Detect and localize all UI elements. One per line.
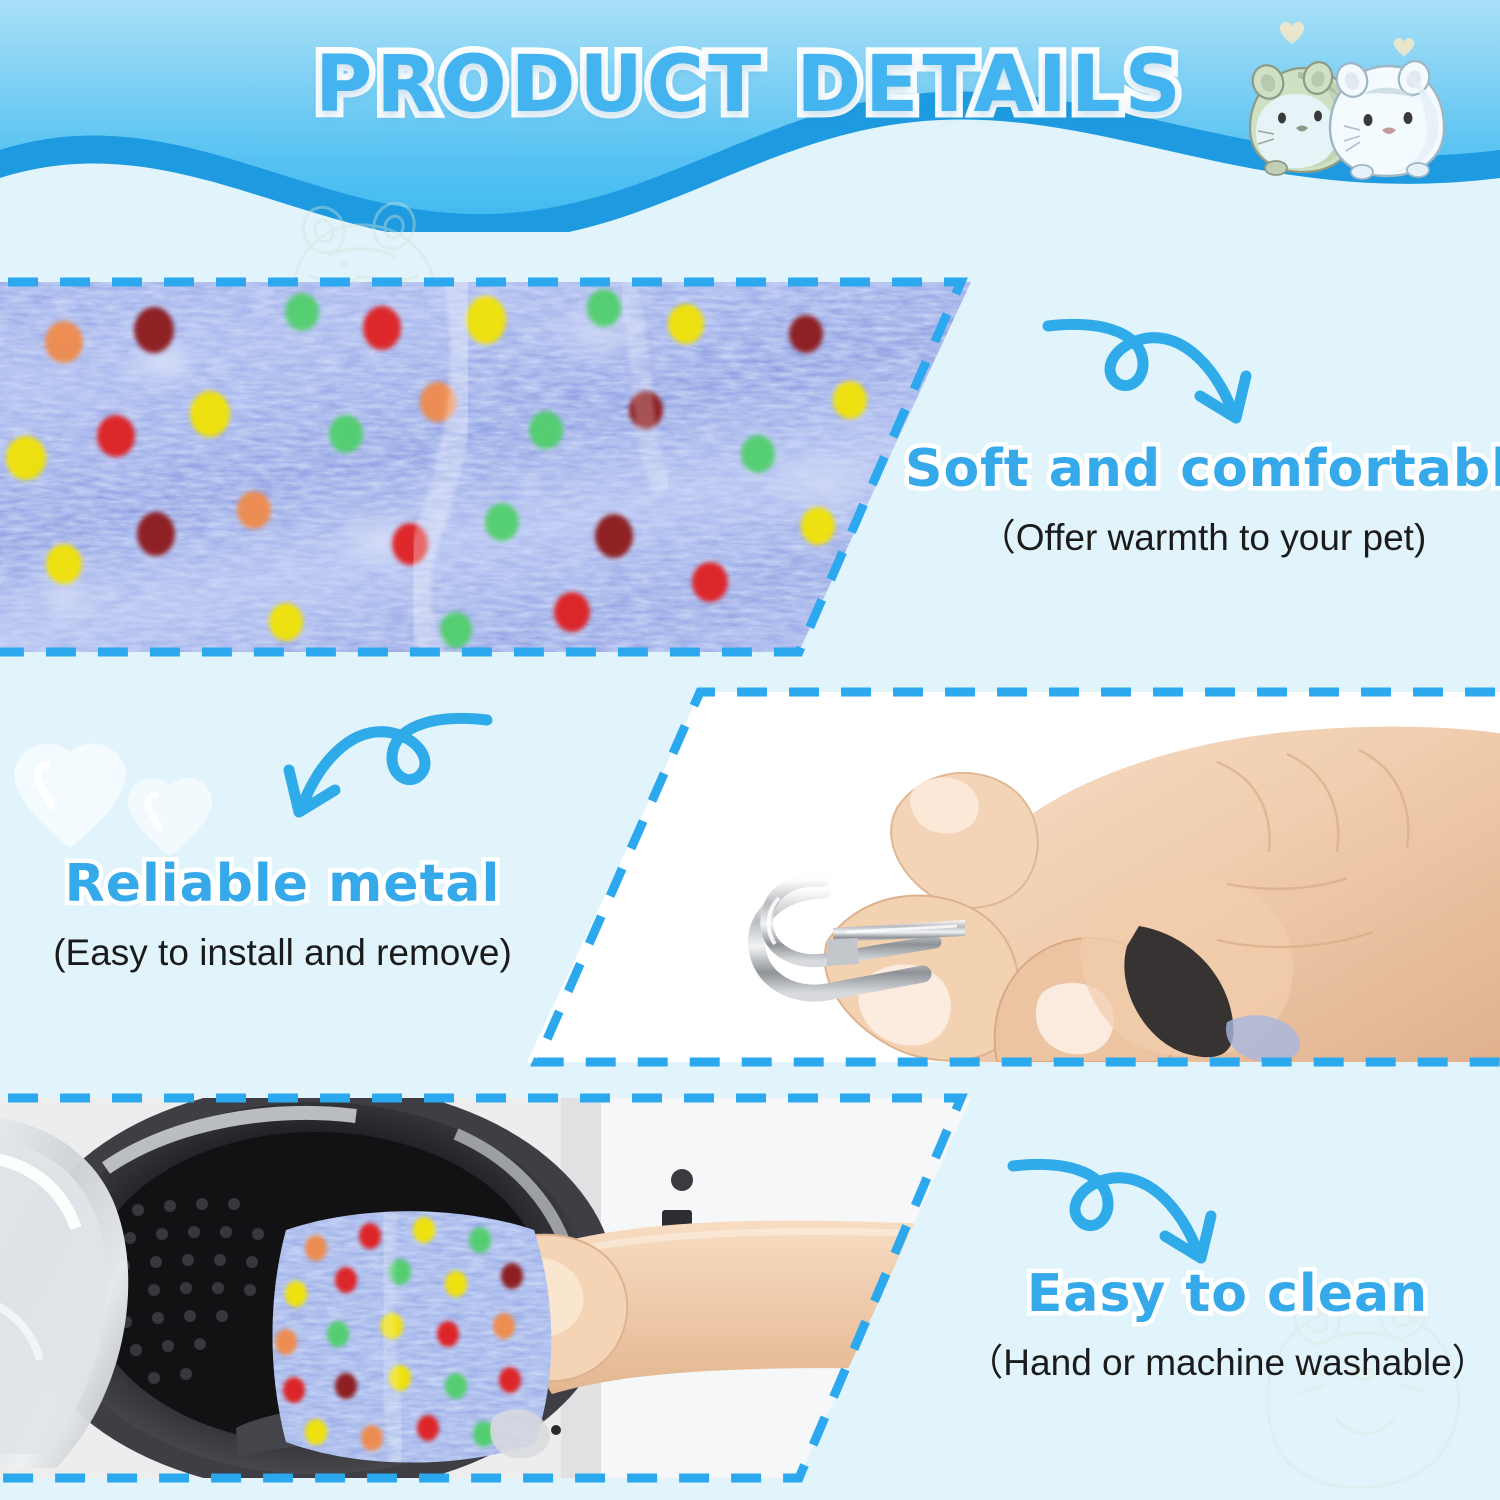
feature-subline: (Easy to install and remove) [0, 931, 565, 975]
feature-headline: Reliable metal [0, 855, 565, 915]
feature-subline: （Offer warmth to your pet) [905, 516, 1500, 560]
hamster-white [1330, 57, 1444, 179]
feature-callout-soft: Soft and comfortable （Offer warmth to yo… [905, 440, 1500, 560]
feature-headline: Easy to clean [955, 1265, 1500, 1325]
page-title: PRODUCT DETAILS [315, 40, 1185, 130]
product-details-infographic: PRODUCT DETAILS [0, 0, 1500, 1500]
feature-photo-panel-soft [0, 282, 971, 652]
feature-callout-metal: Reliable metal (Easy to install and remo… [0, 855, 565, 975]
header-banner: PRODUCT DETAILS [0, 0, 1500, 232]
fleece-fabric-photo [0, 282, 971, 652]
feature-callout-clean: Easy to clean （Hand or machine washable） [955, 1265, 1500, 1385]
curly-arrow-down-left-icon [245, 712, 495, 842]
feature-photo-panel-metal [527, 692, 1500, 1062]
washing-machine-photo [0, 1098, 971, 1478]
feature-headline: Soft and comfortable [905, 440, 1500, 500]
feature-photo-panel-clean [0, 1098, 971, 1478]
curly-arrow-down-right-icon [1040, 318, 1290, 448]
heart-decoration-icon [8, 730, 228, 860]
hamster-mascot-pair [1238, 36, 1448, 186]
metal-hook-photo [527, 692, 1500, 1062]
feature-subline: （Hand or machine washable） [955, 1341, 1500, 1385]
